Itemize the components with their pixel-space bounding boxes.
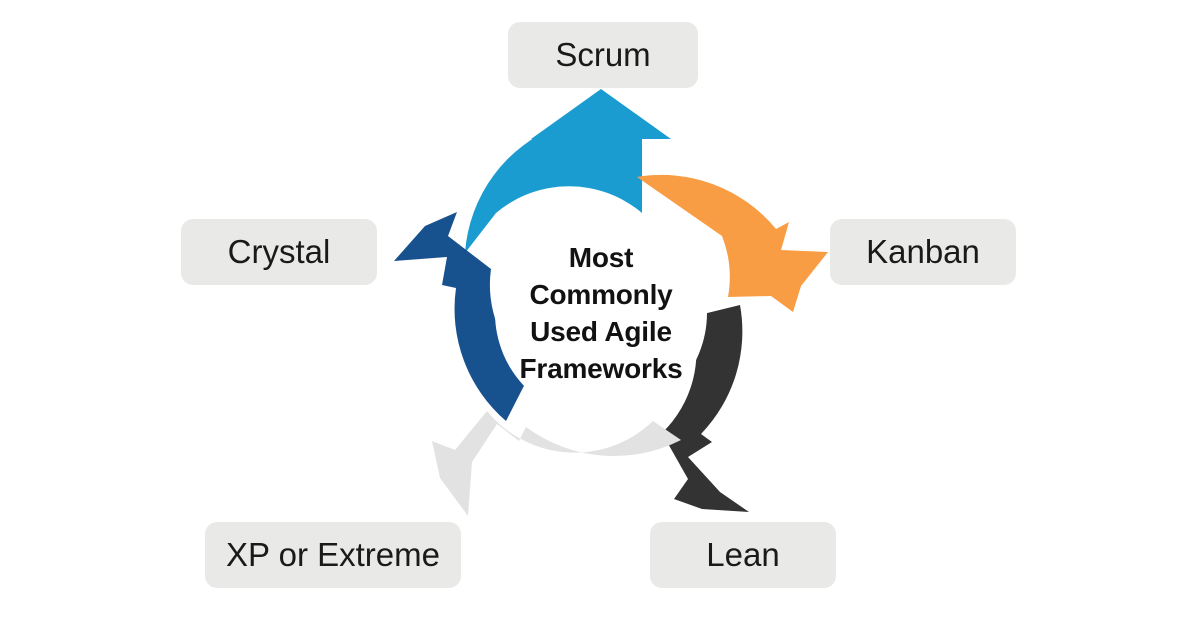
label-text-scrum: Scrum [555,36,650,74]
curved-arrow-xp-shape [432,411,681,516]
diagram-canvas: Most Commonly Used Agile Frameworks Scru… [0,0,1200,627]
label-text-kanban: Kanban [866,233,980,271]
label-box-scrum[interactable]: Scrum [508,22,698,88]
center-title: Most Commonly Used Agile Frameworks [489,228,713,398]
label-box-xp[interactable]: XP or Extreme [205,522,461,588]
label-box-lean[interactable]: Lean [650,522,836,588]
label-text-crystal: Crystal [228,233,331,271]
center-title-line-1: Most [569,239,634,276]
label-box-kanban[interactable]: Kanban [830,219,1016,285]
label-text-xp: XP or Extreme [226,536,440,574]
center-title-line-3: Used Agile [530,313,672,350]
center-title-line-4: Frameworks [520,350,683,387]
curved-arrow-xp [432,411,681,516]
label-box-crystal[interactable]: Crystal [181,219,377,285]
label-text-lean: Lean [706,536,779,574]
center-title-line-2: Commonly [529,276,672,313]
